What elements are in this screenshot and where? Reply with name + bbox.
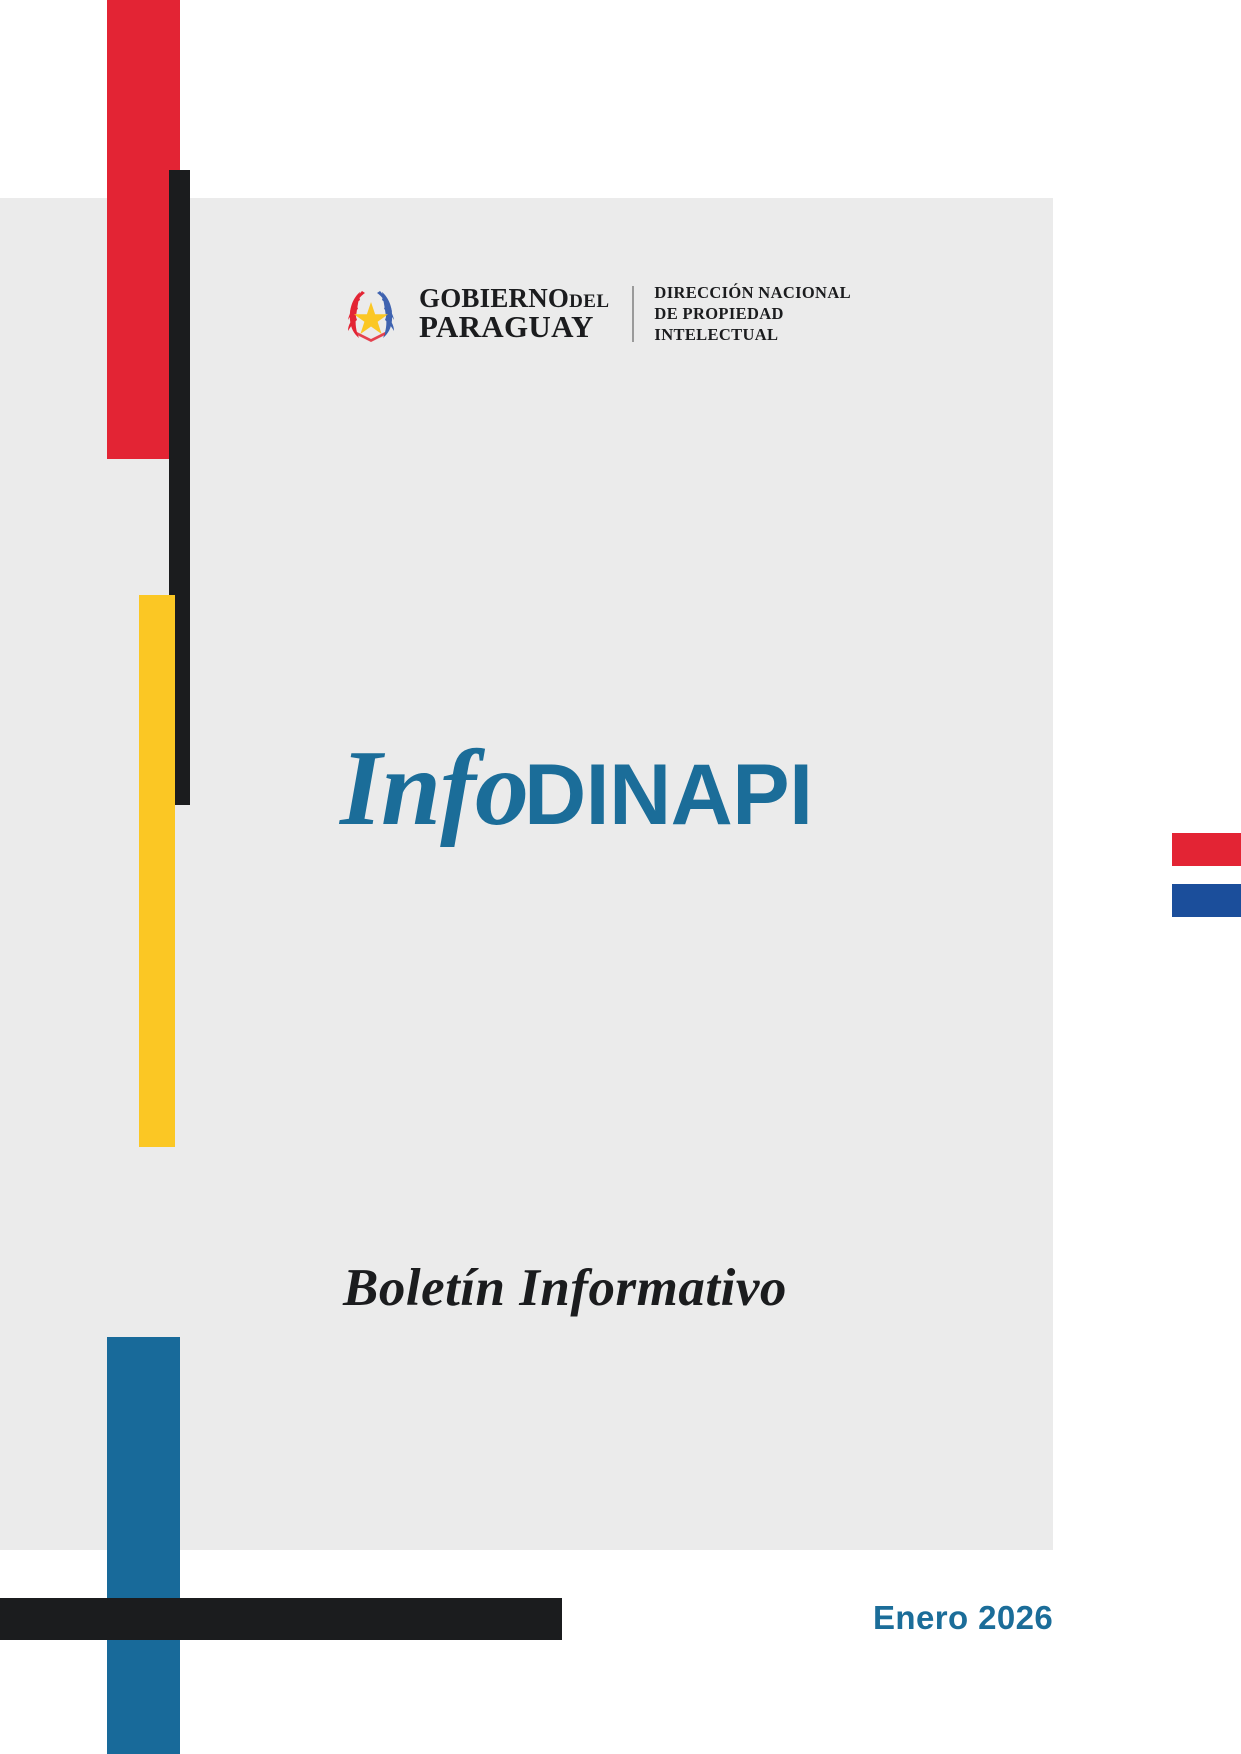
decor-bar-blue: [107, 1337, 180, 1754]
decor-bar-yellow: [139, 595, 175, 1147]
paraguay-coat-of-arms-icon: [340, 286, 402, 342]
publication-title-dinapi: DINAPI: [524, 747, 812, 843]
flag-chip-blue: [1172, 884, 1241, 917]
government-wordmark: GOBIERNODEL PARAGUAY: [419, 286, 609, 342]
agency-name: DIRECCIÓN NACIONAL DE PROPIEDAD INTELECT…: [654, 282, 851, 345]
publication-title: InfoDINAPI: [340, 735, 813, 843]
agency-name-line3: INTELECTUAL: [654, 324, 851, 345]
logo-lockup: GOBIERNODEL PARAGUAY DIRECCIÓN NACIONAL …: [340, 282, 851, 345]
decor-bar-black-horizontal: [0, 1598, 562, 1640]
cover-page: GOBIERNODEL PARAGUAY DIRECCIÓN NACIONAL …: [0, 0, 1241, 1754]
flag-chip-red: [1172, 833, 1241, 866]
publication-subtitle: Boletín Informativo: [343, 1258, 787, 1318]
agency-name-line2: DE PROPIEDAD: [654, 303, 851, 324]
logo-divider: [632, 286, 634, 342]
government-wordmark-line1: GOBIERNODEL: [419, 286, 609, 312]
agency-name-line1: DIRECCIÓN NACIONAL: [654, 282, 851, 303]
government-wordmark-line2: PARAGUAY: [419, 312, 609, 342]
issue-date: Enero 2026: [873, 1599, 1053, 1637]
publication-title-info: Info: [340, 729, 528, 848]
